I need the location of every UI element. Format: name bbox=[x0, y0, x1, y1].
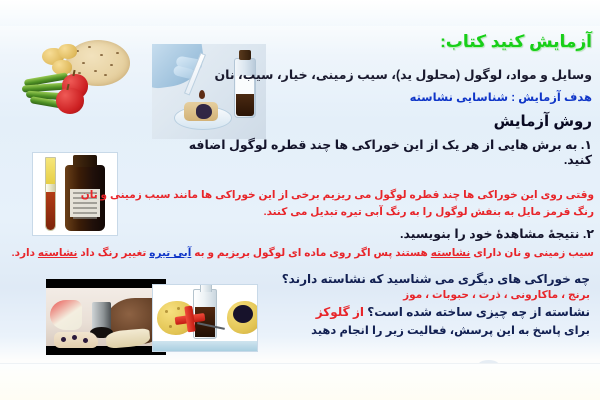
apple-slice-shape bbox=[54, 332, 98, 348]
answer-2: از گلوکز bbox=[316, 305, 364, 319]
materials-line: وسایل و مواد، لوگول (محلول ید)، سیب زمین… bbox=[172, 66, 592, 85]
question-answer-block: چه خوراکی های دیگری می شناسید که نشاسته … bbox=[170, 268, 590, 340]
starch-emphasis-1: نشاسته bbox=[431, 247, 471, 259]
closing-line: برای پاسخ به این پرسش، فعالیت زیر را انج… bbox=[170, 323, 590, 337]
starch-emphasis-2: نشاسته bbox=[38, 247, 78, 259]
apple-quarter-shape bbox=[50, 300, 82, 330]
note-red-line-1: وقتی روی این خوراکی ها چند قطره لوگول می… bbox=[34, 189, 594, 201]
food-assortment-image bbox=[18, 36, 138, 114]
iodine-jar-shape bbox=[92, 302, 111, 332]
gama-watermark: Gama bbox=[473, 353, 592, 398]
goal-line: هدف آزمایش : شناسایی نشاسته bbox=[172, 89, 592, 108]
question-2: نشاسته از چه چیزی ساخته شده است؟ از گلوک… bbox=[170, 305, 590, 319]
conclusion-part-2: هستند پس اگر روی ماده ای لوگول بریزیم و … bbox=[191, 247, 430, 259]
lesson-text-column: آزمایش کنید کتاب: وسایل و مواد، لوگول (م… bbox=[172, 32, 592, 173]
conclusion-part-4: دارد. bbox=[12, 247, 38, 259]
answer-1: برنج ، ماکارونی ، ذرت ، حبوبات ، موز bbox=[170, 289, 590, 301]
method-heading: روش آزمایش bbox=[172, 112, 592, 130]
step-1: ۱. به برش هایی از هر یک از این خوراکی ها… bbox=[172, 137, 592, 167]
step-2: ۲. نتیجهٔ مشاهدهٔ خود را بنویسید. bbox=[34, 226, 594, 241]
question-2-text: نشاسته از چه چیزی ساخته شده است؟ bbox=[364, 305, 590, 319]
question-1: چه خوراکی های دیگری می شناسید که نشاسته … bbox=[170, 272, 590, 286]
page-title: آزمایش کنید کتاب: bbox=[172, 32, 592, 52]
conclusion-line: سیب زمینی و نان دارای نشاسته هستند پس اگ… bbox=[34, 247, 594, 259]
note-red-line-2: رنگ قرمز مایل به بنفش لوگول را به رنگ آب… bbox=[34, 206, 594, 218]
dark-blue-emphasis: آبی تیره bbox=[149, 247, 191, 259]
conclusion-part-3: تغییر رنگ داد bbox=[77, 247, 149, 259]
slide-canvas: آزمایش کنید کتاب: وسایل و مواد، لوگول (م… bbox=[0, 0, 600, 400]
conclusion-part-1: سیب زمینی و نان دارای bbox=[470, 247, 594, 259]
apple-banana-iodine-image bbox=[46, 279, 166, 355]
